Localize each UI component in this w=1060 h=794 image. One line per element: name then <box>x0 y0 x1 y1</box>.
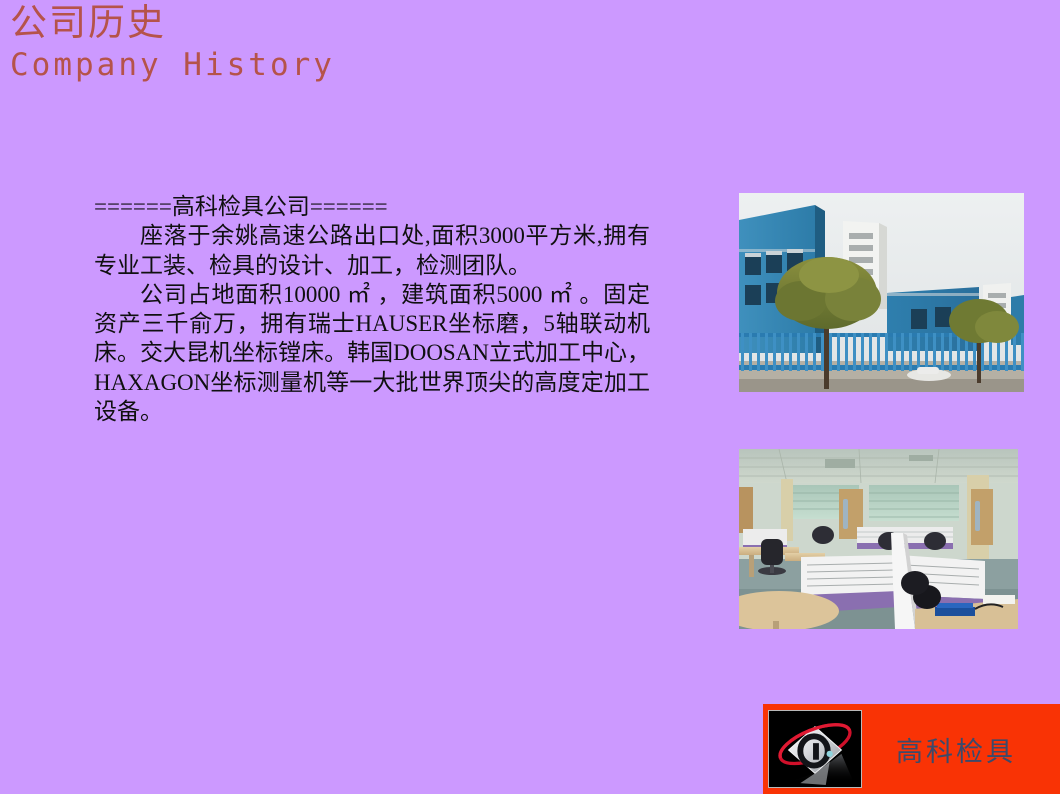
office-interior-photo <box>739 449 1018 629</box>
company-logo-graphic <box>769 711 861 787</box>
body-text-block: ======高科检具公司====== 座落于余姚高速公路出口处,面积3000平方… <box>94 192 650 426</box>
content-paragraph-1: 座落于余姚高速公路出口处,面积3000平方米,拥有专业工装、检具的设计、加工，检… <box>94 221 650 280</box>
company-logo-icon <box>768 710 862 788</box>
content-heading-line: ======高科检具公司====== <box>94 192 650 221</box>
footer-logo-band: 高科检具 <box>763 704 1060 794</box>
content-paragraph-2: 公司占地面积10000 ㎡ ，建筑面积5000 ㎡ 。固定资产三千俞万，拥有瑞士… <box>94 280 650 426</box>
page-title-english: Company History <box>10 46 810 84</box>
factory-exterior-photo-graphic <box>739 193 1024 392</box>
page-title: 公司历史 Company History <box>10 2 810 84</box>
page-title-chinese: 公司历史 <box>10 2 810 46</box>
office-interior-photo-graphic <box>739 449 1018 629</box>
footer-brand-text: 高科检具 <box>862 730 1060 769</box>
factory-exterior-photo <box>739 193 1024 392</box>
